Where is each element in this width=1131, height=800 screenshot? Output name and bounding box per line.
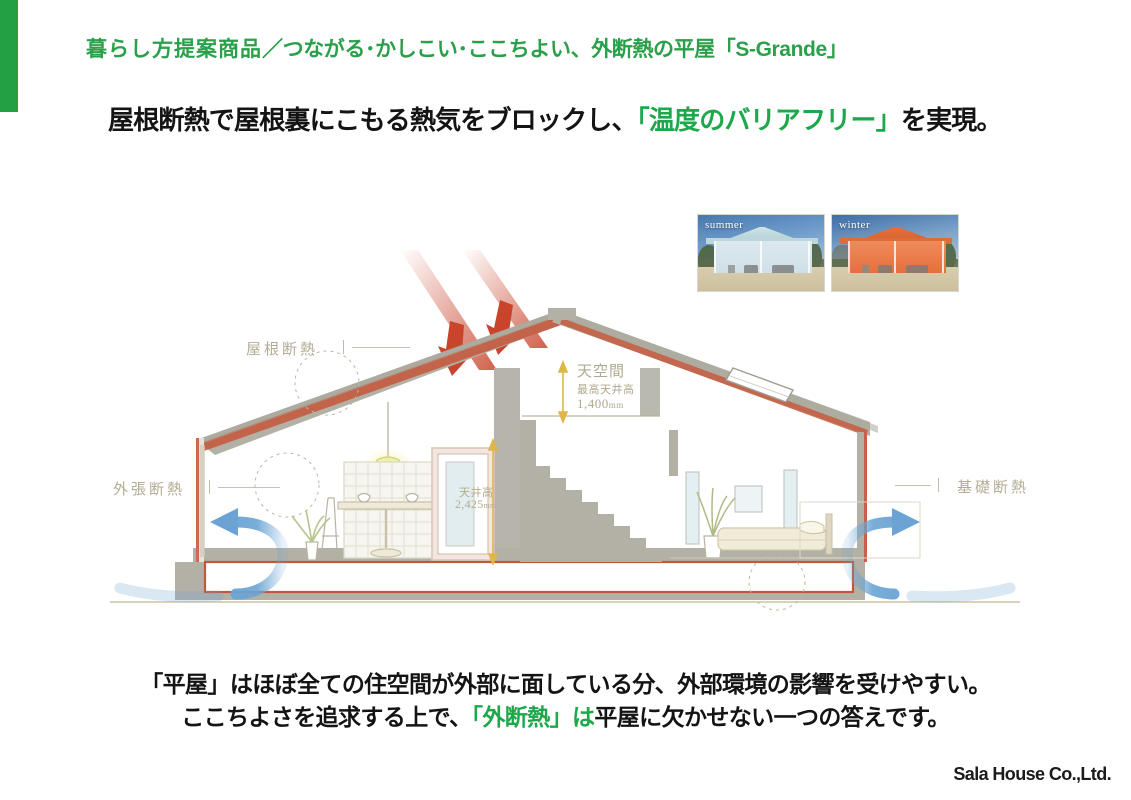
interior-post (669, 430, 678, 476)
company-logo-text: Sala House Co.,Ltd. (953, 764, 1111, 785)
caption-line-1: 「平屋」はほぼ全ての住空間が外部に面している分、外部環境の影響を受けやすい。 (0, 668, 1131, 701)
product-tagline-label: ／つながる･かしこい･ここちよい、外断熱の平屋「S-Grande」 (262, 38, 847, 61)
detail-callout-wall (255, 453, 319, 517)
interior-partition-wall (494, 368, 520, 550)
annotation-leader-line (895, 485, 931, 486)
caption-text-before: ここちよさを追求する上で、 (181, 704, 471, 730)
left-wall-insulation (196, 438, 199, 562)
house-cross-section-diagram (0, 250, 1131, 630)
ceiling-height-value: 2,425mm (455, 497, 497, 512)
bedroom-furniture (670, 470, 858, 558)
green-accent-bar (0, 0, 18, 112)
subtitle-highlight: 「温度のバリアフリー」 (637, 105, 901, 135)
window-tall-left (686, 472, 699, 544)
sky-space-value: 1,400mm (577, 396, 624, 412)
slide: 暮らし方提案商品／つながる･かしこい･ここちよい、外断熱の平屋「S-Grande… (0, 0, 1131, 800)
annotation-tick (209, 480, 210, 494)
wall-picture (735, 486, 762, 512)
annotation-tick (343, 340, 344, 354)
sky-space-number: 1,400 (577, 396, 609, 411)
right-wall-insulation (864, 432, 867, 562)
annotation-foundation-insulation: 基礎断熱 (957, 476, 1029, 497)
sky-space-unit: mm (609, 400, 624, 410)
product-category-label: 暮らし方提案商品 (86, 38, 262, 61)
bed-headboard (826, 514, 832, 554)
sky-space-subtitle: 最高天井高 (577, 381, 635, 397)
foundation-insulation-cavity (205, 562, 853, 592)
dining-table-top (338, 502, 442, 509)
stair-section (520, 420, 662, 562)
ceiling-height-unit: mm (484, 501, 497, 510)
subtitle-text-after: を実現。 (901, 105, 1002, 135)
caption-highlight: 「外断熱」は (471, 704, 594, 730)
page-title-line-1: 暮らし方提案商品／つながる･かしこい･ここちよい、外断熱の平屋「S-Grande… (86, 33, 847, 63)
annotation-leader-line (218, 487, 280, 488)
annotation-exterior-insulation: 外張断熱 (113, 478, 185, 499)
airflow-arrow-right (847, 508, 1010, 597)
thumbnail-label-winter: winter (839, 219, 870, 231)
thumbnail-label-summer: summer (705, 219, 743, 231)
subtitle-text-before: 屋根断熱で屋根裏にこもる熱気をブロックし、 (108, 105, 637, 135)
page-subtitle: 屋根断熱で屋根裏にこもる熱気をブロックし、「温度のバリアフリー」を実現。 (108, 100, 1002, 137)
dimension-arrow-sky (559, 362, 567, 422)
annotation-tick (938, 478, 939, 492)
bed-pillow (800, 521, 824, 533)
caption-text-after: 平屋に欠かせない一つの答えです。 (594, 704, 949, 730)
bottom-caption: 「平屋」はほぼ全ての住空間が外部に面している分、外部環境の影響を受けやすい。 こ… (0, 668, 1131, 733)
caption-line-2: ここちよさを追求する上で、「外断熱」は平屋に欠かせない一つの答えです。 (0, 701, 1131, 734)
annotation-leader-line (352, 347, 410, 348)
sky-space-title: 天空間 (577, 360, 625, 381)
annotation-roof-insulation: 屋根断熱 (246, 338, 318, 359)
ceiling-height-number: 2,425 (455, 497, 484, 511)
